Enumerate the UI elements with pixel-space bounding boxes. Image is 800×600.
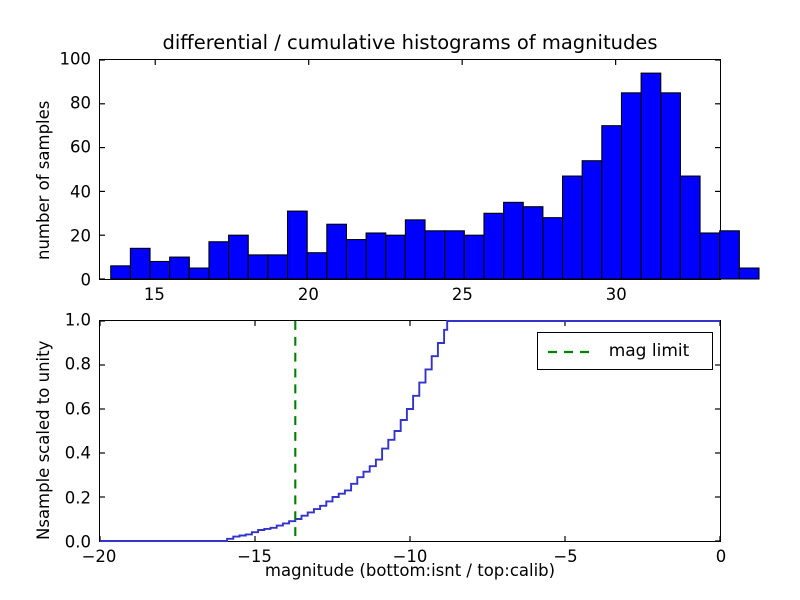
top-panel-ytick-label: 0	[81, 271, 92, 290]
bottom-panel-ytick-label: 0.4	[65, 444, 91, 463]
top-panel-ytick-label: 20	[70, 226, 91, 245]
figure-canvas: differential / cumulative histograms of …	[0, 0, 800, 600]
top-panel-axes	[99, 59, 721, 280]
top-panel-xtick-label: 15	[144, 285, 165, 304]
bottom-panel-ytick-label: 1.0	[65, 311, 91, 330]
legend: mag limit	[537, 332, 713, 370]
top-panel-xtick-label: 25	[452, 285, 473, 304]
top-panel-ytick-label: 100	[60, 50, 92, 69]
histogram-plot-area	[100, 60, 720, 279]
top-panel-ytick-label: 60	[70, 138, 91, 157]
bottom-panel-y-axis-label: Nsample scaled to unity	[34, 341, 53, 540]
dashed-line-icon	[547, 345, 591, 359]
legend-swatch-mag-limit	[547, 344, 591, 358]
top-panel-xtick-label: 30	[606, 285, 627, 304]
top-panel-y-axis-label: number of samples	[34, 101, 53, 260]
bottom-panel-axes: mag limit	[99, 320, 721, 542]
figure-x-axis-label: magnitude (bottom:isnt / top:calib)	[99, 561, 721, 580]
bottom-panel-ytick-label: 0.2	[65, 488, 91, 507]
bottom-panel-ytick-label: 0.6	[65, 399, 91, 418]
bottom-panel-ytick-label: 0.8	[65, 355, 91, 374]
top-panel-ytick-label: 40	[70, 182, 91, 201]
page-title: differential / cumulative histograms of …	[99, 31, 721, 54]
top-panel-xtick-label: 20	[298, 285, 319, 304]
legend-label-mag-limit: mag limit	[591, 341, 703, 361]
top-panel-ytick-label: 80	[70, 94, 91, 113]
